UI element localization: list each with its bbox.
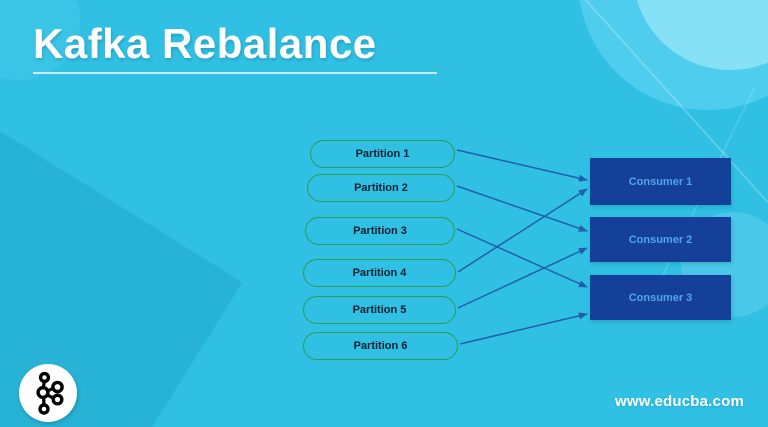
consumer-node-3[interactable]: Consumer 3 bbox=[590, 275, 731, 320]
consumer-node-1[interactable]: Consumer 1 bbox=[590, 158, 731, 205]
edge-p4-to-c1 bbox=[458, 189, 587, 272]
watermark-url: www.educba.com bbox=[615, 393, 744, 410]
consumer-node-2[interactable]: Consumer 2 bbox=[590, 217, 731, 262]
edge-p1-to-c1 bbox=[457, 150, 587, 180]
edge-p6-to-c3 bbox=[460, 314, 587, 344]
edge-p3-to-c3 bbox=[457, 229, 587, 287]
edge-p5-to-c2 bbox=[458, 248, 587, 308]
partition-node-4[interactable]: Partition 4 bbox=[303, 259, 456, 287]
partition-node-3[interactable]: Partition 3 bbox=[305, 217, 455, 245]
partition-node-5[interactable]: Partition 5 bbox=[303, 296, 456, 324]
kafka-rebalance-diagram: Partition 1Partition 2Partition 3Partiti… bbox=[0, 0, 768, 427]
partition-node-6[interactable]: Partition 6 bbox=[303, 332, 458, 360]
kafka-logo-mark bbox=[19, 364, 77, 422]
edge-layer bbox=[0, 0, 768, 427]
apache-kafka-logo bbox=[19, 364, 77, 422]
partition-node-1[interactable]: Partition 1 bbox=[310, 140, 455, 168]
slide-canvas: Kafka Rebalance Partition 1Partition 2Pa… bbox=[0, 0, 768, 427]
partition-node-2[interactable]: Partition 2 bbox=[307, 174, 455, 202]
edge-p2-to-c2 bbox=[457, 186, 587, 231]
